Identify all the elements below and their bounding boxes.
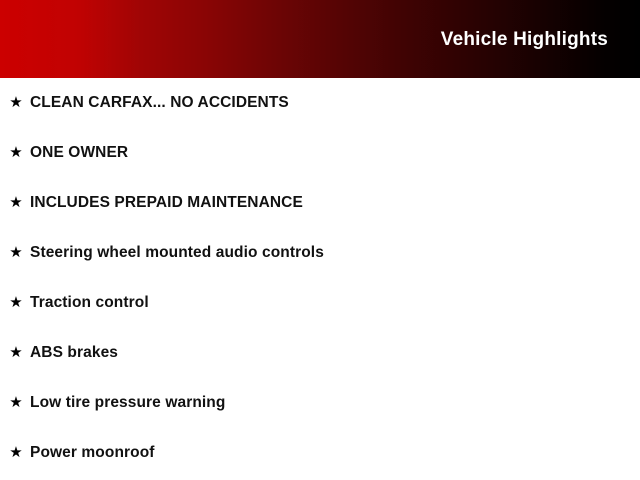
star-icon: ★ — [8, 328, 24, 378]
star-icon: ★ — [8, 228, 24, 278]
list-item: ★ INCLUDES PREPAID MAINTENANCE — [0, 178, 640, 228]
star-icon: ★ — [8, 128, 24, 178]
highlight-label: CLEAN CARFAX... NO ACCIDENTS — [30, 78, 289, 128]
star-icon: ★ — [8, 428, 24, 478]
highlight-label: ONE OWNER — [30, 128, 128, 178]
vehicle-highlights-list: ★ CLEAN CARFAX... NO ACCIDENTS ★ ONE OWN… — [0, 78, 640, 478]
highlight-label: Low tire pressure warning — [30, 378, 225, 428]
header-banner: Vehicle Highlights — [0, 0, 640, 78]
star-icon: ★ — [8, 378, 24, 428]
highlight-label: Traction control — [30, 278, 149, 328]
list-item: ★ Power moonroof — [0, 428, 640, 478]
highlight-label: Power moonroof — [30, 428, 155, 478]
highlight-label: INCLUDES PREPAID MAINTENANCE — [30, 178, 303, 228]
star-icon: ★ — [8, 278, 24, 328]
vehicle-highlights-page: Vehicle Highlights ★ CLEAN CARFAX... NO … — [0, 0, 640, 480]
list-item: ★ ONE OWNER — [0, 128, 640, 178]
page-title: Vehicle Highlights — [441, 29, 608, 51]
list-item: ★ Steering wheel mounted audio controls — [0, 228, 640, 278]
star-icon: ★ — [8, 178, 24, 228]
highlight-label: ABS brakes — [30, 328, 118, 378]
list-item: ★ CLEAN CARFAX... NO ACCIDENTS — [0, 78, 640, 128]
list-item: ★ ABS brakes — [0, 328, 640, 378]
highlight-label: Steering wheel mounted audio controls — [30, 228, 324, 278]
star-icon: ★ — [8, 78, 24, 128]
list-item: ★ Traction control — [0, 278, 640, 328]
list-item: ★ Low tire pressure warning — [0, 378, 640, 428]
